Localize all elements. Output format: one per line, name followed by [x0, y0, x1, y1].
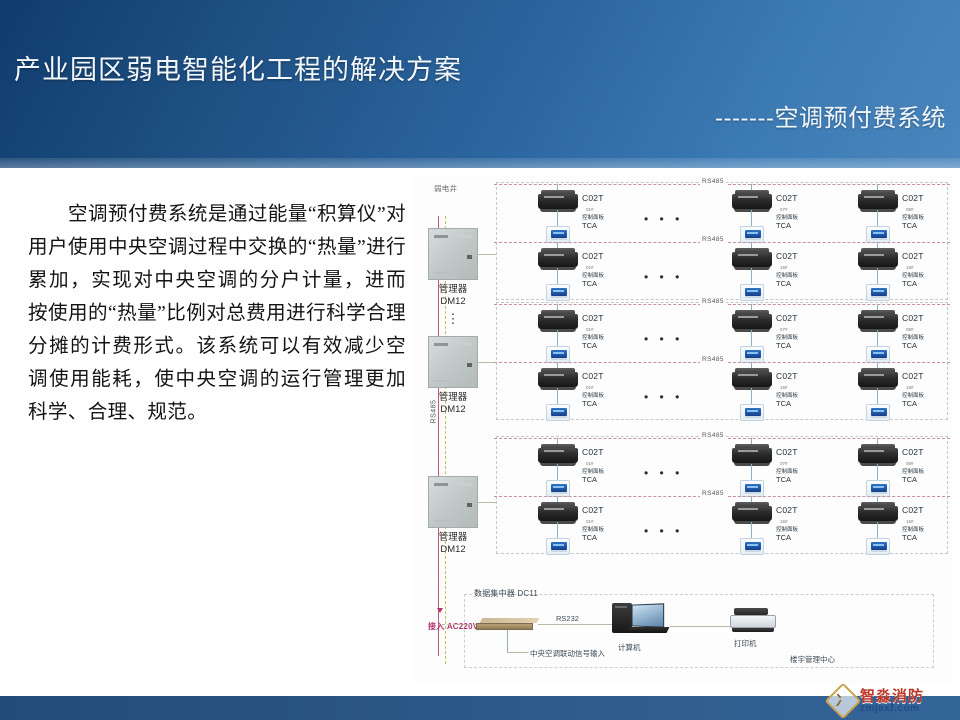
device-number: 16# [906, 265, 914, 270]
device-name: C02T [776, 371, 798, 381]
energy-meter-icon [732, 444, 772, 464]
slide-body: 空调预付费系统是通过能量“积算仪”对用户使用中央空调过程中交换的“热量”进行累加… [0, 168, 960, 696]
manager-slot2-icon [459, 235, 472, 238]
node-panel-link [557, 268, 558, 284]
panel-buttons [745, 358, 761, 360]
data-concentrator-dc11[interactable] [476, 618, 538, 630]
panel-screen [871, 542, 887, 550]
device-node-4-3[interactable]: C02T 16# 控制面板 TCA [858, 366, 944, 430]
panel-model-text: TCA [902, 534, 946, 542]
meter-base [860, 521, 896, 524]
manager-foot-icon [434, 380, 450, 382]
row-5-ellipsis: • • • [644, 466, 683, 480]
watermark-url: zmjaxf.com [860, 704, 924, 714]
meter-body [858, 448, 898, 463]
device-name: C02T [776, 505, 798, 515]
device-name: C02T [582, 505, 604, 515]
building-management-center-label: 楼宇管理中心 [790, 654, 835, 665]
device-number: 08# [906, 207, 914, 212]
panel-buttons [871, 492, 887, 494]
rs232-label: RS232 [554, 614, 581, 623]
device-number: 08# [906, 327, 914, 332]
device-name: C02T [902, 313, 924, 323]
manager-model-text: DM12 [418, 404, 488, 416]
meter-base [540, 329, 576, 332]
node-panel-link [877, 268, 878, 284]
meter-strip [738, 374, 758, 376]
energy-meter-icon [858, 444, 898, 464]
panel-screen [551, 288, 567, 296]
printer-top-icon [734, 608, 768, 615]
manager-label-text: 管理器 [418, 532, 488, 544]
meter-body [538, 448, 578, 463]
control-panel-icon[interactable] [546, 346, 570, 363]
meter-base [540, 267, 576, 270]
panel-screen [745, 350, 761, 358]
panel-label: 控制面板 TCA [582, 214, 626, 230]
node-panel-link [751, 464, 752, 480]
device-number: 15# [780, 519, 788, 524]
device-name: C02T [776, 193, 798, 203]
manager-slot-icon [434, 483, 448, 486]
rs485-label-row-2: RS485 [700, 236, 726, 243]
control-panel-icon[interactable] [866, 404, 890, 421]
node-panel-link [877, 388, 878, 404]
printer-device[interactable] [730, 608, 776, 634]
page-title: 产业园区弱电智能化工程的解决方案 [14, 48, 462, 87]
control-panel-icon[interactable] [740, 538, 764, 555]
energy-meter-icon [858, 368, 898, 388]
node-panel-link [751, 522, 752, 538]
panel-label: 控制面板 TCA [902, 526, 946, 542]
panel-screen [745, 408, 761, 416]
watermark-brand: 智淼消防 [860, 689, 924, 704]
dc11-signal-link-h [507, 652, 529, 653]
row-6-ellipsis: • • • [644, 524, 683, 538]
energy-meter-icon [858, 310, 898, 330]
panel-buttons [551, 358, 567, 360]
meter-base [734, 463, 770, 466]
computer-label: 计算机 [618, 642, 641, 653]
page-subtitle: -------空调预付费系统 [715, 98, 946, 133]
device-number: 16# [906, 385, 914, 390]
node-panel-link [557, 330, 558, 346]
manager-dm12-2[interactable] [428, 336, 478, 388]
control-panel-icon[interactable] [740, 346, 764, 363]
device-number: 01# [586, 327, 594, 332]
meter-strip [738, 316, 758, 318]
panel-buttons [871, 238, 887, 240]
meter-body [732, 252, 772, 267]
power-arrow-icon [437, 608, 443, 613]
meter-base [540, 463, 576, 466]
panel-label: 控制面板 TCA [902, 272, 946, 288]
control-panel-icon[interactable] [866, 538, 890, 555]
meter-strip [738, 508, 758, 510]
device-node-4-2[interactable]: C02T 15# 控制面板 TCA [732, 366, 818, 430]
rs485-label-row-6: RS485 [700, 490, 726, 497]
manager-slot-icon [434, 343, 448, 346]
panel-screen [551, 542, 567, 550]
panel-model-text: TCA [776, 476, 820, 484]
panel-label: 控制面板 TCA [582, 468, 626, 484]
meter-base [540, 209, 576, 212]
slide: 产业园区弱电智能化工程的解决方案 -------空调预付费系统 空调预付费系统是… [0, 0, 960, 720]
panel-screen [745, 288, 761, 296]
manager-port-icon [467, 255, 472, 259]
panel-buttons [745, 492, 761, 494]
meter-body [858, 372, 898, 387]
panel-label: 控制面板 TCA [902, 214, 946, 230]
keyboard-icon [627, 627, 670, 633]
node-panel-link [751, 388, 752, 404]
panel-label: 控制面板 TCA [776, 214, 820, 230]
manager-continuation-dots: ⋮ [446, 316, 460, 322]
meter-strip [544, 316, 564, 318]
watermark-logo-icon: 冫 [825, 683, 862, 720]
manager-label-text: 管理器 [418, 392, 488, 404]
panel-buttons [745, 550, 761, 552]
manager-dm12-1-label: 管理器 DM12 [418, 284, 488, 308]
panel-screen [551, 230, 567, 238]
panel-label: 控制面板 TCA [582, 272, 626, 288]
meter-strip [864, 374, 884, 376]
panel-buttons [551, 296, 567, 298]
data-concentrator-label: 数据集中器 DC11 [474, 588, 538, 599]
energy-meter-icon [538, 190, 578, 210]
rs485-label-row-1: RS485 [700, 178, 726, 185]
panel-model-text: TCA [776, 342, 820, 350]
meter-strip [738, 450, 758, 452]
panel-buttons [745, 296, 761, 298]
energy-meter-icon [732, 368, 772, 388]
panel-screen [745, 542, 761, 550]
device-name: C02T [776, 447, 798, 457]
meter-body [732, 448, 772, 463]
device-name: C02T [582, 447, 604, 457]
meter-base [734, 329, 770, 332]
manager-dm12-2-label: 管理器 DM12 [418, 392, 488, 416]
slide-header: 产业园区弱电智能化工程的解决方案 -------空调预付费系统 [0, 0, 960, 168]
device-node-6-3[interactable]: C02T 16# 控制面板 TCA [858, 500, 944, 564]
watermark-text: 智淼消防 zmjaxf.com [860, 689, 924, 714]
rs485-label-row-5: RS485 [700, 432, 726, 439]
energy-meter-icon [732, 310, 772, 330]
manager-dm12-3-label: 管理器 DM12 [418, 532, 488, 556]
meter-body [538, 314, 578, 329]
manager-3-link [478, 502, 496, 503]
panel-model-text: TCA [776, 222, 820, 230]
node-panel-link [557, 388, 558, 404]
panel-model-text: TCA [902, 280, 946, 288]
node-panel-link [751, 330, 752, 346]
meter-body [858, 194, 898, 209]
dc11-signal-link [507, 630, 508, 652]
panel-label: 控制面板 TCA [902, 468, 946, 484]
node-panel-link [877, 464, 878, 480]
meter-base [860, 387, 896, 390]
device-node-4-1[interactable]: C02T 01# 控制面板 TCA [538, 366, 624, 430]
control-panel-icon[interactable] [546, 538, 570, 555]
control-panel-icon[interactable] [866, 480, 890, 497]
panel-buttons [551, 492, 567, 494]
device-name: C02T [582, 251, 604, 261]
energy-meter-icon [732, 248, 772, 268]
meter-body [858, 252, 898, 267]
energy-meter-icon [538, 444, 578, 464]
meter-strip [544, 254, 564, 256]
row-1-ellipsis: • • • [644, 212, 683, 226]
panel-model-text: TCA [582, 400, 626, 408]
energy-meter-icon [538, 368, 578, 388]
device-name: C02T [582, 371, 604, 381]
meter-body [732, 194, 772, 209]
panel-label: 控制面板 TCA [776, 392, 820, 408]
manager-dm12-3[interactable] [428, 476, 478, 528]
panel-model-text: TCA [582, 342, 626, 350]
panel-model-text: TCA [902, 476, 946, 484]
panel-screen [871, 484, 887, 492]
control-panel-icon[interactable] [866, 226, 890, 243]
meter-strip [864, 508, 884, 510]
control-panel-icon[interactable] [740, 480, 764, 497]
panel-buttons [871, 416, 887, 418]
device-number: 16# [906, 519, 914, 524]
description-paragraph: 空调预付费系统是通过能量“积算仪”对用户使用中央空调过程中交换的“热量”进行累加… [28, 198, 406, 429]
panel-screen [871, 288, 887, 296]
meter-body [858, 506, 898, 521]
panel-label: 控制面板 TCA [776, 272, 820, 288]
device-name: C02T [902, 193, 924, 203]
printer-body-icon [730, 615, 776, 628]
meter-strip [544, 196, 564, 198]
row-2-ellipsis: • • • [644, 270, 683, 284]
panel-buttons [745, 416, 761, 418]
device-node-2-1[interactable]: C02T 01# 控制面板 TCA [538, 246, 624, 310]
panel-buttons [551, 550, 567, 552]
panel-screen [745, 484, 761, 492]
printer-label: 打印机 [734, 638, 757, 649]
panel-label: 控制面板 TCA [902, 392, 946, 408]
node-panel-link [751, 210, 752, 226]
device-name: C02T [902, 251, 924, 261]
control-panel-icon[interactable] [546, 284, 570, 301]
panel-screen [871, 350, 887, 358]
device-number: 01# [586, 461, 594, 466]
panel-screen [745, 230, 761, 238]
meter-body [732, 314, 772, 329]
node-panel-link [557, 464, 558, 480]
panel-buttons [871, 550, 887, 552]
row-3-ellipsis: • • • [644, 332, 683, 346]
hvac-signal-input-label: 中央空调联动信号输入 [530, 648, 605, 659]
manager-model-text: DM12 [418, 544, 488, 556]
system-topology-diagram: 弱电井 RS485 接入 AC220V 管理器 DM12 ⋮ [412, 176, 952, 684]
panel-model-text: TCA [902, 342, 946, 350]
panel-model-text: TCA [776, 534, 820, 542]
panel-buttons [871, 296, 887, 298]
panel-model-text: TCA [582, 476, 626, 484]
panel-label: 控制面板 TCA [776, 526, 820, 542]
rs232-line [538, 624, 614, 625]
node-panel-link [877, 330, 878, 346]
watermark-glyph: 冫 [835, 694, 850, 709]
manager-slot2-icon [459, 343, 472, 346]
rs485-trunk-line [438, 216, 439, 656]
device-number: 08# [906, 461, 914, 466]
manager-foot-icon [434, 272, 450, 274]
printer-base-icon [732, 628, 774, 632]
meter-body [732, 506, 772, 521]
meter-base [860, 267, 896, 270]
meter-strip [544, 508, 564, 510]
device-node-2-2[interactable]: C02T 15# 控制面板 TCA [732, 246, 818, 310]
panel-buttons [871, 358, 887, 360]
panel-label: 控制面板 TCA [582, 526, 626, 542]
manager-dm12-1[interactable] [428, 228, 478, 280]
panel-model-text: TCA [582, 534, 626, 542]
meter-body [538, 506, 578, 521]
device-name: C02T [776, 251, 798, 261]
energy-meter-icon [858, 502, 898, 522]
panel-label: 控制面板 TCA [582, 334, 626, 350]
panel-screen [551, 484, 567, 492]
node-panel-link [877, 522, 878, 538]
rs485-label-row-4: RS485 [700, 356, 726, 363]
control-panel-icon[interactable] [740, 404, 764, 421]
meter-base [540, 521, 576, 524]
weak-current-shaft-label: 弱电井 [434, 183, 457, 194]
control-panel-icon[interactable] [546, 480, 570, 497]
panel-screen [871, 230, 887, 238]
panel-screen [551, 350, 567, 358]
pc-to-printer-line [670, 626, 732, 627]
watermark: 冫 智淼消防 zmjaxf.com [830, 684, 956, 718]
manager-port-icon [467, 503, 472, 507]
panel-model-text: TCA [776, 400, 820, 408]
device-name: C02T [582, 313, 604, 323]
meter-body [538, 372, 578, 387]
meter-base [734, 521, 770, 524]
node-panel-link [877, 210, 878, 226]
device-number: 01# [586, 207, 594, 212]
energy-meter-icon [538, 248, 578, 268]
panel-model-text: TCA [902, 400, 946, 408]
manager-slot2-icon [459, 483, 472, 486]
control-panel-icon[interactable] [740, 284, 764, 301]
energy-meter-icon [538, 310, 578, 330]
control-panel-icon[interactable] [740, 226, 764, 243]
meter-strip [864, 196, 884, 198]
node-panel-link [751, 268, 752, 284]
panel-model-text: TCA [582, 280, 626, 288]
energy-meter-icon [858, 248, 898, 268]
meter-strip [544, 450, 564, 452]
device-name: C02T [582, 193, 604, 203]
manager-label-text: 管理器 [418, 284, 488, 296]
meter-body [538, 252, 578, 267]
meter-base [860, 329, 896, 332]
meter-base [734, 267, 770, 270]
meter-strip [864, 254, 884, 256]
panel-model-text: TCA [776, 280, 820, 288]
panel-screen [551, 408, 567, 416]
device-node-6-1[interactable]: C02T 01# 控制面板 TCA [538, 500, 624, 564]
meter-body [538, 194, 578, 209]
meter-base [734, 387, 770, 390]
panel-model-text: TCA [902, 222, 946, 230]
control-panel-icon[interactable] [546, 404, 570, 421]
manager-1-link [478, 254, 496, 255]
device-number: 07# [780, 207, 788, 212]
device-number: 01# [586, 385, 594, 390]
energy-meter-icon [732, 190, 772, 210]
node-panel-link [557, 522, 558, 538]
manager-slot-icon [434, 235, 448, 238]
panel-label: 控制面板 TCA [776, 468, 820, 484]
dc11-front [476, 623, 533, 630]
row-4-ellipsis: • • • [644, 390, 683, 404]
panel-model-text: TCA [582, 222, 626, 230]
device-node-6-2[interactable]: C02T 15# 控制面板 TCA [732, 500, 818, 564]
meter-strip [864, 450, 884, 452]
meter-base [540, 387, 576, 390]
meter-strip [738, 196, 758, 198]
device-name: C02T [902, 447, 924, 457]
node-panel-link [557, 210, 558, 226]
meter-base [860, 463, 896, 466]
device-node-2-3[interactable]: C02T 16# 控制面板 TCA [858, 246, 944, 310]
device-number: 01# [586, 519, 594, 524]
panel-buttons [551, 416, 567, 418]
panel-buttons [551, 238, 567, 240]
meter-strip [738, 254, 758, 256]
meter-body [858, 314, 898, 329]
device-number: 07# [780, 327, 788, 332]
monitor-icon [632, 603, 664, 627]
panel-label: 控制面板 TCA [776, 334, 820, 350]
energy-meter-icon [538, 502, 578, 522]
device-number: 15# [780, 385, 788, 390]
manager-foot-icon [434, 520, 450, 522]
meter-base [734, 209, 770, 212]
control-panel-icon[interactable] [546, 226, 570, 243]
meter-strip [544, 374, 564, 376]
device-number: 01# [586, 265, 594, 270]
device-name: C02T [902, 505, 924, 515]
meter-body [732, 372, 772, 387]
manager-model-text: DM12 [418, 296, 488, 308]
panel-label: 控制面板 TCA [582, 392, 626, 408]
meter-strip [864, 316, 884, 318]
control-panel-icon[interactable] [866, 284, 890, 301]
manager-port-icon [467, 363, 472, 367]
panel-screen [871, 408, 887, 416]
rs485-label-row-3: RS485 [700, 298, 726, 305]
device-number: 15# [780, 265, 788, 270]
device-number: 07# [780, 461, 788, 466]
panel-buttons [745, 238, 761, 240]
slide-footer [0, 696, 960, 720]
device-name: C02T [902, 371, 924, 381]
panel-label: 控制面板 TCA [902, 334, 946, 350]
control-panel-icon[interactable] [866, 346, 890, 363]
energy-meter-icon [732, 502, 772, 522]
device-name: C02T [776, 313, 798, 323]
computer-workstation[interactable] [612, 601, 670, 641]
energy-meter-icon [858, 190, 898, 210]
meter-base [860, 209, 896, 212]
